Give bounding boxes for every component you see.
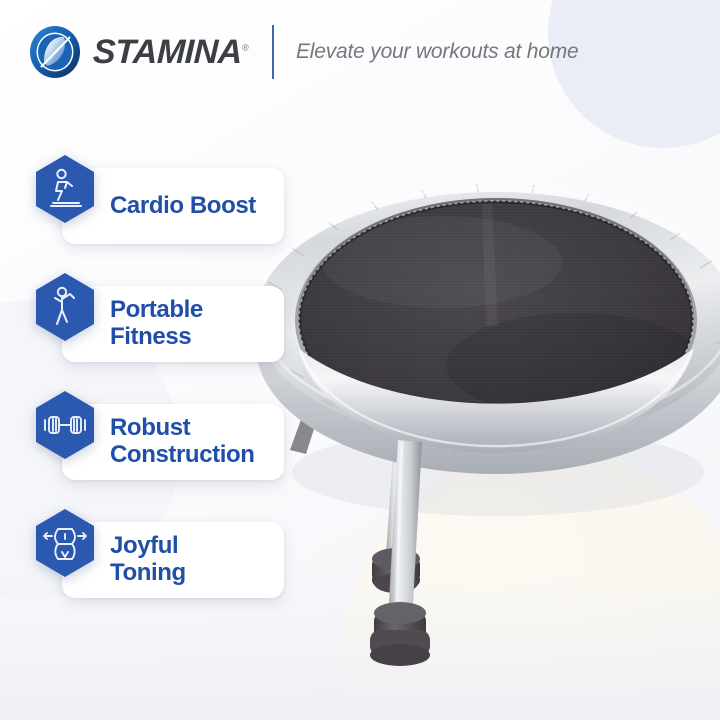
dumbbell-icon [34, 390, 96, 460]
treadmill-runner-icon [34, 154, 96, 224]
feature-label: Joyful Toning [110, 533, 186, 587]
mini-trampoline-image [246, 150, 720, 690]
feature-item-cardio-boost[interactable]: Cardio Boost [0, 150, 300, 268]
brand-tagline: Elevate your workouts at home [296, 40, 579, 64]
waist-slimming-icon [34, 508, 96, 578]
feature-item-portable-fitness[interactable]: Portable Fitness [0, 268, 300, 386]
feature-list: Cardio Boost [0, 150, 300, 622]
feature-badge [34, 154, 96, 224]
feature-label: Portable Fitness [110, 297, 203, 351]
product-marketing-canvas: STAMINA® Elevate your workouts at home [0, 0, 720, 720]
feature-badge [34, 508, 96, 578]
stretching-person-icon [34, 272, 96, 342]
header-divider [272, 25, 274, 79]
brand-wordmark: STAMINA® [92, 35, 248, 69]
feature-item-joyful-toning[interactable]: Joyful Toning [0, 504, 300, 622]
stamina-logo-icon [28, 25, 82, 79]
feature-badge [34, 390, 96, 460]
brand-header: STAMINA® Elevate your workouts at home [0, 0, 720, 104]
brand-name: STAMINA [92, 33, 242, 71]
feature-label: Cardio Boost [110, 193, 256, 220]
trademark-symbol: ® [242, 43, 248, 53]
feature-item-robust-construction[interactable]: Robust Construction [0, 386, 300, 504]
feature-badge [34, 272, 96, 342]
feature-label: Robust Construction [110, 415, 255, 469]
